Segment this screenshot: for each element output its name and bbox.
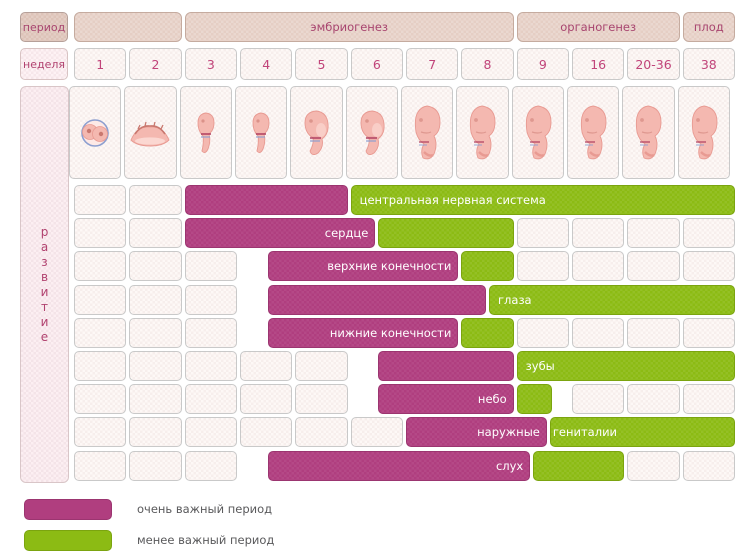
blastocyst-icon [127,116,173,150]
bar-row: центральная нервная система [0,185,755,215]
week-cell-label: 5 [318,57,326,72]
legend-swatch-high [24,499,112,520]
week-cell-label: 1 [96,57,104,72]
zygote-icon [75,113,115,153]
week-cell-label: 3 [207,57,215,72]
embryo-icon [352,106,392,160]
empty-cell [572,251,624,281]
period-segment-плод: плод [683,12,735,42]
fetus-icon [517,102,559,164]
empty-cell [627,384,679,414]
organ-label: гениталии [553,425,617,439]
fetus-icon [406,102,448,164]
embryo-stage-cell-week-2[interactable] [124,86,176,179]
critical-period-bar[interactable]: сердце [185,218,376,248]
embryo-stage-cell-week-9[interactable] [512,86,564,179]
empty-cell [240,351,292,381]
legend-row: очень важный период [24,498,274,520]
critical-period-bar[interactable]: наружные [406,417,547,447]
week-cell-3[interactable]: 3 [185,48,237,80]
bar-row: зубы [0,351,755,381]
period-header-row: период эмбриогенезорганогенезплод [0,12,755,42]
week-cell-label: 2 [152,57,160,72]
bar-row: нижние конечности [0,318,755,348]
period-segment-label: органогенез [560,20,636,34]
empty-cell [129,318,181,348]
organ-label: глаза [498,293,532,307]
fetus-icon [627,102,669,164]
embryo-stage-cell-week-4[interactable] [235,86,287,179]
empty-cell [129,185,181,215]
embryo-stage-cell-week-20-36[interactable] [622,86,674,179]
less-critical-period-bar[interactable]: гениталии [550,417,735,447]
empty-cell [74,251,126,281]
empty-cell [129,285,181,315]
embryo-stage-cell-week-7[interactable] [401,86,453,179]
less-critical-period-bar[interactable]: центральная нервная система [351,185,735,215]
week-cell-label: 7 [428,57,436,72]
organ-label: зубы [526,359,555,373]
week-cell-38[interactable]: 38 [683,48,735,80]
bar-row: сердце [0,218,755,248]
empty-cell [683,451,735,481]
empty-cell [683,251,735,281]
empty-cell [185,318,237,348]
embryo-icon [244,107,278,159]
period-segment-label: эмбриогенез [310,20,388,34]
empty-cell [627,218,679,248]
period-segments: эмбриогенезорганогенезплод [0,12,755,42]
embryo-stage-cell-week-38[interactable] [678,86,730,179]
critical-period-bar[interactable]: нижние конечности [268,318,459,348]
less-critical-period-bar[interactable] [517,384,553,414]
less-critical-period-bar[interactable] [461,318,513,348]
less-critical-period-bar[interactable] [461,251,513,281]
week-cell-label: 16 [590,57,606,72]
bar-row: наружныегениталии [0,417,755,447]
period-segment-blank [74,12,182,42]
empty-cell [129,251,181,281]
empty-cell [572,318,624,348]
organ-label: сердце [325,226,369,240]
empty-cell [74,417,126,447]
embryo-icon [189,107,223,159]
organ-label: небо [478,392,507,406]
empty-cell [627,451,679,481]
prenatal-development-chart: период эмбриогенезорганогенезплод неделя… [0,0,755,555]
week-cell-label: 8 [484,57,492,72]
week-cell-6[interactable]: 6 [351,48,403,80]
empty-cell [683,384,735,414]
empty-cell [74,318,126,348]
embryo-icon [296,106,336,160]
week-cell-label: 38 [701,57,717,72]
empty-cell [517,218,569,248]
week-cell-8[interactable]: 8 [461,48,513,80]
empty-cell [572,218,624,248]
fetus-icon [683,102,725,164]
week-cell-4[interactable]: 4 [240,48,292,80]
empty-cell [240,384,292,414]
week-cell-label: 4 [262,57,270,72]
empty-cell [572,384,624,414]
bar-row: верхние конечности [0,251,755,281]
week-header-row: неделя 1234567891620-3638 [0,48,755,80]
organ-label: нижние конечности [330,326,452,340]
week-cell-1[interactable]: 1 [74,48,126,80]
empty-cell [185,417,237,447]
empty-cell [74,384,126,414]
empty-cell [129,451,181,481]
empty-cell [517,318,569,348]
week-cell-7[interactable]: 7 [406,48,458,80]
less-critical-period-bar[interactable]: глаза [489,285,735,315]
organ-label: наружные [477,425,540,439]
week-cell-label: 6 [373,57,381,72]
bar-row: слух [0,451,755,481]
week-cell-label: 20-36 [635,57,671,72]
empty-cell [185,451,237,481]
less-critical-period-bar[interactable] [533,451,624,481]
week-cell-20-36[interactable]: 20-36 [627,48,679,80]
period-segment-эмбриогенез: эмбриогенез [185,12,514,42]
bar-row: глаза [0,285,755,315]
week-cells: 1234567891620-3638 [0,48,755,80]
empty-cell [185,285,237,315]
empty-cell [351,417,403,447]
legend-label: очень важный период [137,502,272,516]
empty-cell [240,417,292,447]
empty-cell [74,285,126,315]
empty-cell [74,185,126,215]
week-cell-16[interactable]: 16 [572,48,624,80]
critical-period-bar[interactable] [185,185,348,215]
empty-cell [627,251,679,281]
embryo-stage-cell-week-6[interactable] [346,86,398,179]
empty-cell [683,318,735,348]
empty-cell [295,417,347,447]
week-cell-label: 9 [539,57,547,72]
empty-cell [295,351,347,381]
embryo-stage-cell-week-8[interactable] [456,86,508,179]
empty-cell [185,251,237,281]
embryo-stage-row [0,86,755,179]
empty-cell [185,384,237,414]
legend-swatch-low [24,530,112,551]
fetus-icon [461,102,503,164]
organ-label: слух [496,459,523,473]
less-critical-period-bar[interactable] [378,218,513,248]
embryo-stage-cell-week-16[interactable] [567,86,619,179]
empty-cell [185,351,237,381]
period-segment-label: плод [694,20,724,34]
week-cell-9[interactable]: 9 [517,48,569,80]
fetus-icon [572,102,614,164]
critical-period-bar[interactable] [268,285,486,315]
organ-label: верхние конечности [327,259,451,273]
empty-cell [517,251,569,281]
embryo-stage-cell-week-5[interactable] [290,86,342,179]
less-critical-period-bar[interactable]: зубы [517,351,735,381]
legend: очень важный периодменее важный период [24,498,274,555]
empty-cell [129,417,181,447]
empty-cell [74,218,126,248]
embryo-cells [69,86,755,179]
critical-period-bar[interactable]: небо [378,384,513,414]
empty-cell [74,451,126,481]
empty-cell [129,351,181,381]
critical-period-bar[interactable]: слух [268,451,531,481]
critical-period-bar[interactable]: верхние конечности [268,251,459,281]
bar-row: небо [0,384,755,414]
organ-label: центральная нервная система [360,193,546,207]
week-cell-2[interactable]: 2 [129,48,181,80]
legend-label: менее важный период [137,533,274,547]
legend-row: менее важный период [24,529,274,551]
empty-cell [129,384,181,414]
empty-cell [627,318,679,348]
empty-cell [295,384,347,414]
embryo-stage-cell-week-3[interactable] [180,86,232,179]
embryo-stage-cell-week-1[interactable] [69,86,121,179]
week-cell-5[interactable]: 5 [295,48,347,80]
empty-cell [129,218,181,248]
empty-cell [74,351,126,381]
critical-period-bar[interactable] [378,351,513,381]
empty-cell [683,218,735,248]
period-segment-органогенез: органогенез [517,12,680,42]
